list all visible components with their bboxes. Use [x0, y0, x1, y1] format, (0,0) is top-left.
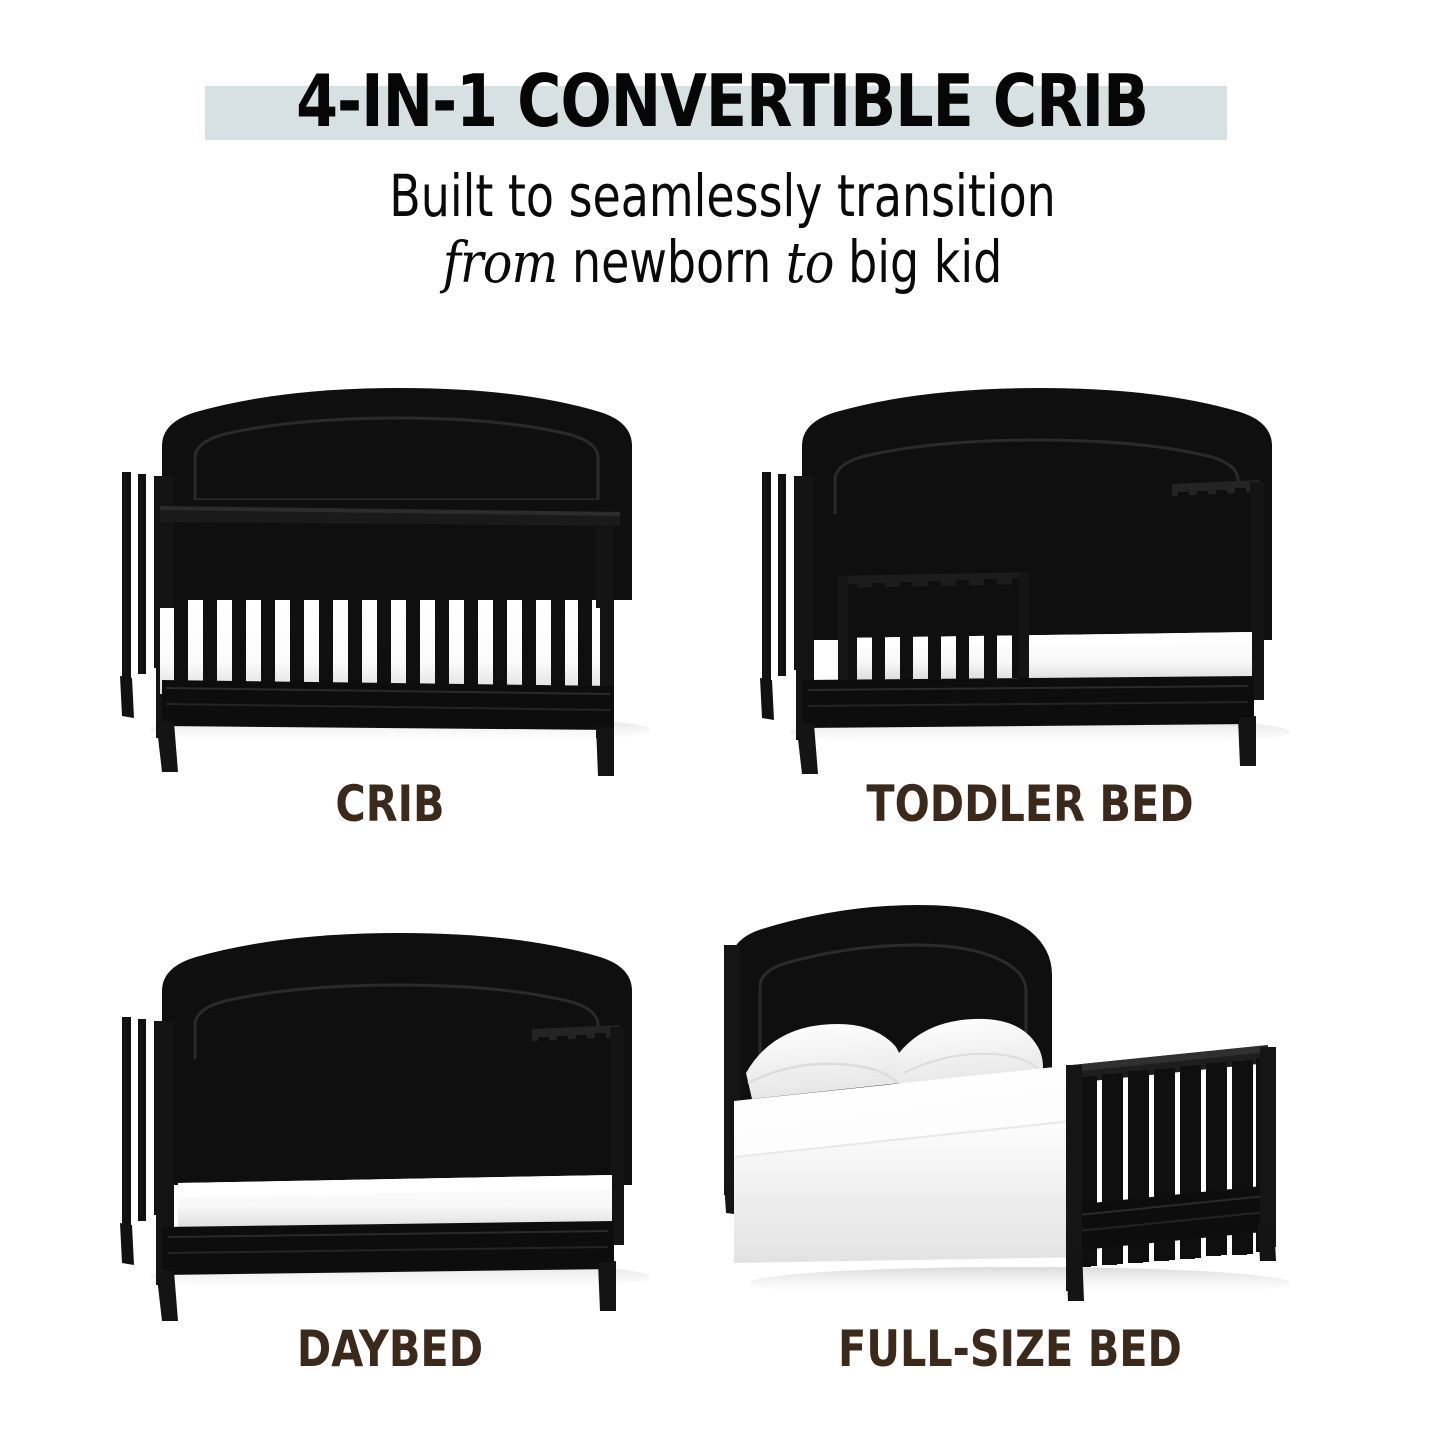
variants-grid: CRIB [0, 380, 1445, 1445]
variant-crib: CRIB [100, 380, 680, 850]
convertible-crib-illustration [100, 380, 680, 780]
variant-label-daybed: DAYBED [123, 1323, 657, 1375]
subtitle-line-1: Built to seamlessly transition [87, 163, 1359, 229]
subtitle-word-newborn: newborn [572, 228, 771, 296]
page-title: 4-IN-1 CONVERTIBLE CRIB [296, 62, 1148, 140]
toddler-bed-illustration-svg [740, 380, 1320, 780]
subtitle-word-bigkid: big kid [848, 228, 1002, 296]
daybed-illustration [100, 925, 680, 1325]
variant-label-full-size-bed: FULL-SIZE BED [725, 1323, 1295, 1375]
daybed-illustration-svg [100, 925, 680, 1325]
variant-label-crib: CRIB [123, 778, 657, 830]
variant-toddler-bed: TODDLER BED [740, 380, 1320, 850]
subtitle-script-to: to [786, 231, 834, 296]
variant-label-toddler-bed: TODDLER BED [763, 778, 1297, 830]
subtitle: Built to seamlessly transition from newb… [0, 163, 1445, 297]
crib-illustration [100, 380, 680, 780]
page-title-container: 4-IN-1 CONVERTIBLE CRIB [0, 62, 1445, 140]
subtitle-line-2: from newborn to big kid [87, 229, 1359, 297]
full-size-bed-illustration [700, 905, 1320, 1325]
infographic-page: 4-IN-1 CONVERTIBLE CRIB Built to seamles… [0, 0, 1445, 1445]
variant-daybed: DAYBED [100, 925, 680, 1395]
variant-full-size-bed: FULL-SIZE BED [700, 905, 1320, 1395]
subtitle-script-from: from [443, 231, 558, 296]
toddler-bed-illustration [740, 380, 1320, 780]
full-size-bed-illustration-svg [700, 905, 1320, 1325]
